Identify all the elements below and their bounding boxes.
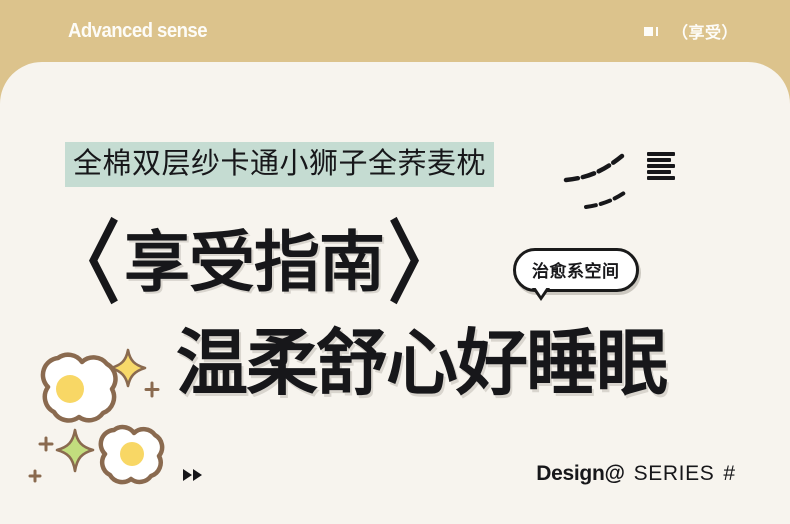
brand-title: Advanced sense	[68, 20, 207, 43]
subtitle-text: 全棉双层纱卡通小狮子全荞麦枕	[73, 150, 486, 179]
speech-bubble: 治愈系空间	[513, 248, 639, 292]
daisy-flowers-sparkles-icon	[18, 334, 183, 494]
subtitle-highlight: 全棉双层纱卡通小狮子全荞麦枕	[65, 142, 494, 187]
daisy-flower-large	[43, 355, 116, 421]
stripe-line	[647, 164, 675, 168]
footer-series: Design@ SERIES #	[536, 462, 735, 486]
series-design-label: Design@	[536, 462, 624, 486]
speech-bubble-tail	[532, 288, 550, 301]
stripe-line	[647, 176, 675, 180]
series-name-label: SERIES	[634, 462, 715, 486]
headline-main-text: 享受指南	[124, 230, 384, 296]
bracket-left: 〈	[48, 218, 120, 308]
top-banner: Advanced sense （享受）	[0, 0, 790, 62]
headline-line-2: 温柔舒心好睡眠	[176, 327, 666, 399]
stripe-line	[647, 170, 671, 174]
sparkle-green	[57, 430, 93, 471]
stripe-line	[647, 152, 675, 156]
bar-glyph	[656, 27, 658, 36]
banner-right-group: （享受）	[644, 19, 738, 43]
banner-tag-label: （享受）	[672, 19, 738, 43]
square-bar-icon	[644, 27, 658, 36]
fast-forward-icon	[183, 469, 202, 481]
ff-triangle	[183, 469, 192, 481]
headline-secondary-text: 温柔舒心好睡眠	[176, 321, 666, 405]
ff-triangle	[193, 469, 202, 481]
series-hash-label: #	[723, 462, 735, 486]
square-glyph	[644, 27, 653, 36]
daisy-flower-small	[101, 427, 162, 482]
bracket-right: 〉	[388, 218, 460, 308]
content-card: 全棉双层纱卡通小狮子全荞麦枕 〈 享受指南 〉 治愈系空间 温柔舒心好睡眠	[0, 62, 790, 524]
stacked-stripes-icon	[647, 152, 675, 180]
headline-line-1: 〈 享受指南 〉	[48, 227, 460, 299]
poster-root: Advanced sense （享受） 全棉双层纱卡通小狮子全荞麦枕	[0, 0, 790, 524]
stripe-line	[647, 158, 671, 162]
speech-bubble-text: 治愈系空间	[532, 262, 620, 282]
